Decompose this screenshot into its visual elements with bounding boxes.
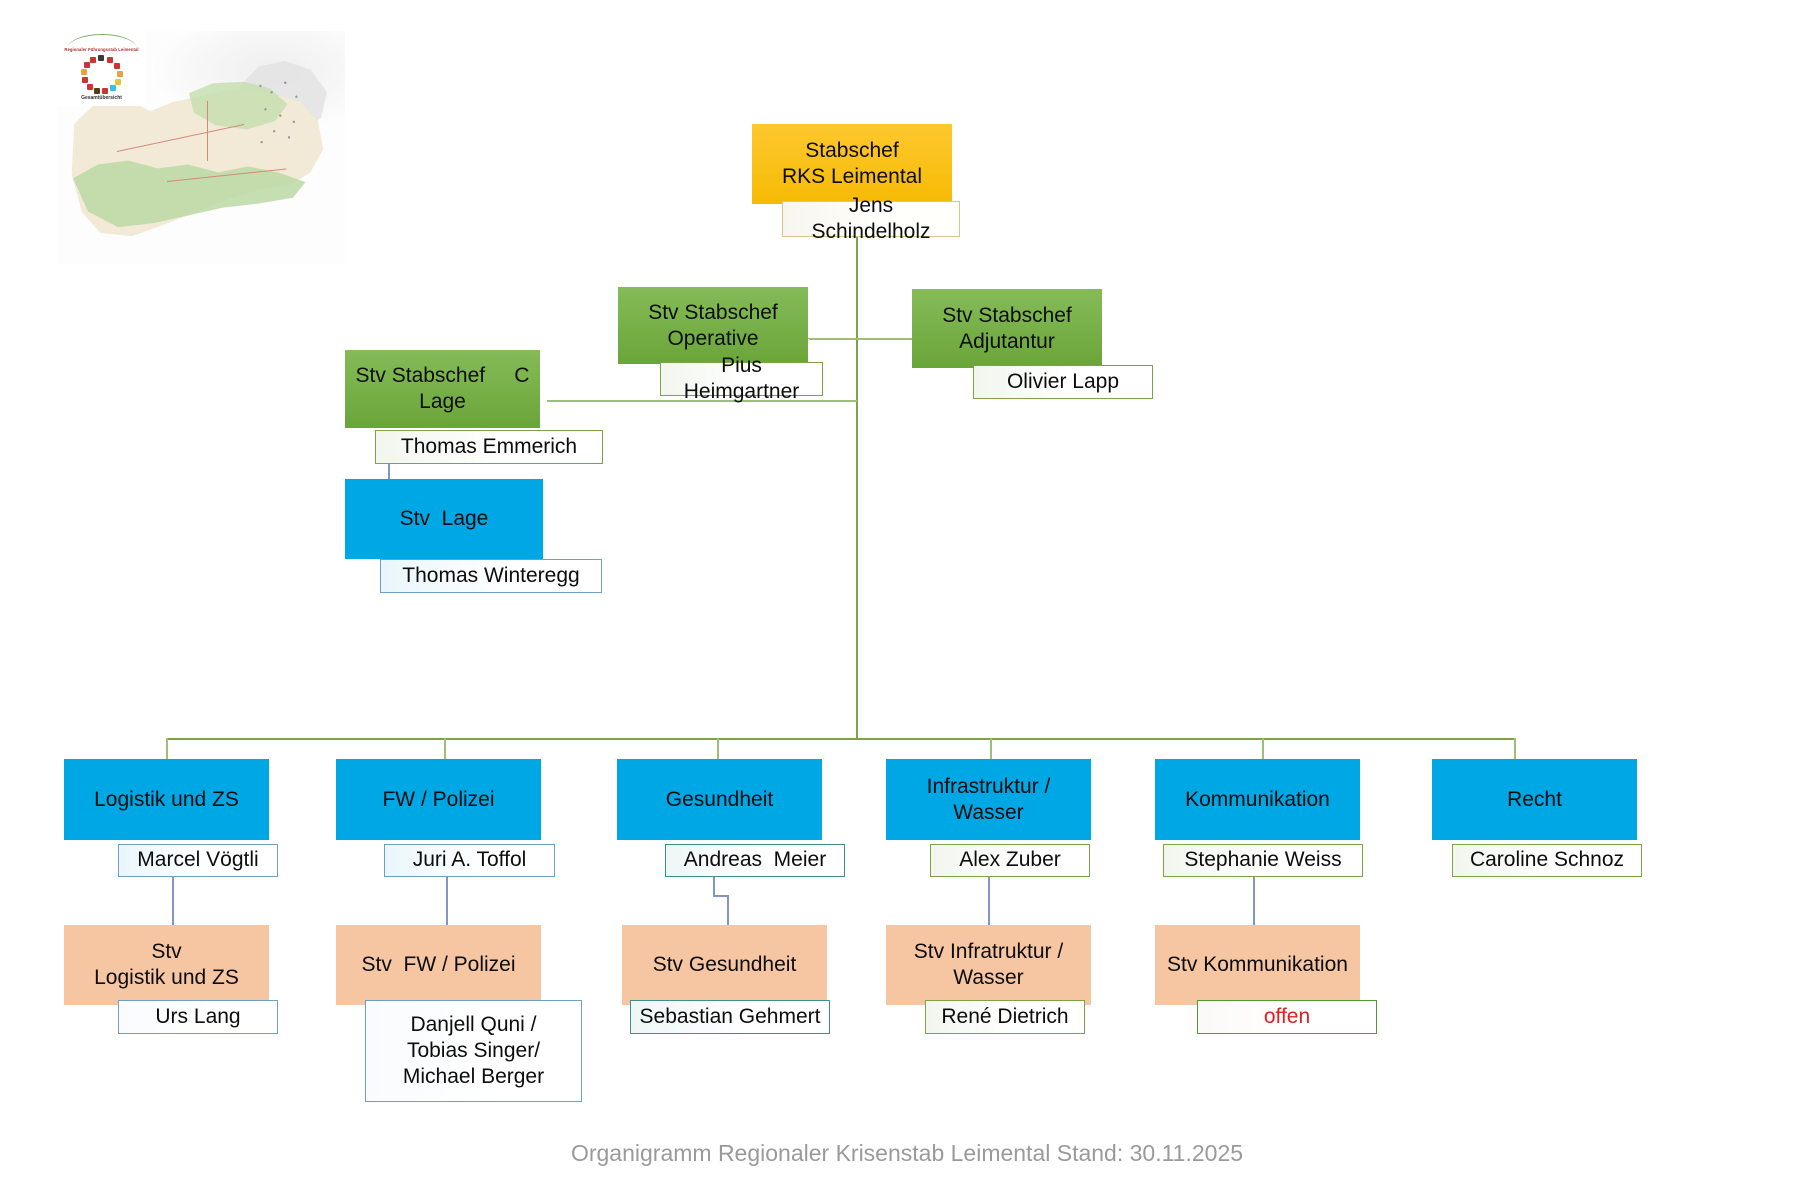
connector-unit1-to-deputy [172,873,174,926]
logo-caption: Gesamtübersicht [59,95,144,101]
unit-1-name: Marcel Vögtli [118,844,278,877]
deputy-2-name: Danjell Quni / Tobias Singer/ Michael Be… [365,1000,582,1102]
connector-drop-unit-4 [990,738,992,760]
connector-unit3-to-deputy-c [727,895,729,926]
unit-6-name: Caroline Schnoz [1452,844,1642,877]
deputy-4-name: René Dietrich [925,1000,1085,1034]
deputy-3-name: Sebastian Gehmert [630,1000,830,1034]
connector-unit5-to-deputy [1253,873,1255,926]
unit-4-name: Alex Zuber [930,844,1090,877]
logo-brand-text: Regionaler Führungsstab Leimental [61,47,142,52]
unit-6-title: Recht [1432,759,1637,840]
footer-caption: Organigramm Regionaler Krisenstab Leimen… [0,1140,1814,1167]
unit-5-title: Kommunikation [1155,759,1360,840]
unit-2-title: FW / Polizei [336,759,541,840]
deputy-2-title: Stv FW / Polizei [336,925,541,1005]
deputy-3-title: Stv Gesundheit [622,925,827,1005]
unit-3-name: Andreas Meier [665,844,845,877]
stv-lage-box-name: Thomas Winteregg [380,559,602,593]
connector-trunk-vertical [856,207,858,739]
deputy-4-title: Stv Infratruktur / Wasser [886,925,1091,1005]
connector-drop-unit-2 [444,738,446,760]
stv-adjutantur-name: Olivier Lapp [973,365,1153,399]
org-chart-canvas: Regionaler Führungsstab Leimental Gesamt… [0,0,1814,1186]
logo-card: Regionaler Führungsstab Leimental Gesamt… [57,31,146,106]
logo-ring-icons [81,55,121,95]
unit-5-name: Stephanie Weiss [1163,844,1363,877]
connector-drop-unit-6 [1514,738,1516,760]
unit-4-title: Infrastruktur / Wasser [886,759,1091,840]
connector-unit2-to-deputy [446,873,448,926]
stabschef-name: Jens Schindelholz [782,201,960,237]
deputy-5-name: offen [1197,1000,1377,1034]
deputy-1-name: Urs Lang [118,1000,278,1034]
connector-drop-unit-5 [1262,738,1264,760]
connector-drop-unit-1 [166,738,168,760]
connector-to-operative [809,338,857,340]
stv-lage-title: Stv Stabschef C Lage [345,350,540,428]
deputy-1-title: Stv Logistik und ZS [64,925,269,1005]
deputy-5-title: Stv Kommunikation [1155,925,1360,1005]
unit-3-title: Gesundheit [617,759,822,840]
stv-adjutantur-title: Stv Stabschef Adjutantur [912,289,1102,368]
stv-lage-name: Thomas Emmerich [375,430,603,464]
connector-unit4-to-deputy [988,873,990,926]
stv-lage-box-title: Stv Lage [345,479,543,559]
stv-operative-name: Pius Heimgartner [660,362,823,396]
connector-operative-drop [808,338,810,339]
unit-1-title: Logistik und ZS [64,759,269,840]
connector-units-bus [166,738,1516,740]
connector-drop-unit-3 [717,738,719,760]
unit-2-name: Juri A. Toffol [384,844,555,877]
